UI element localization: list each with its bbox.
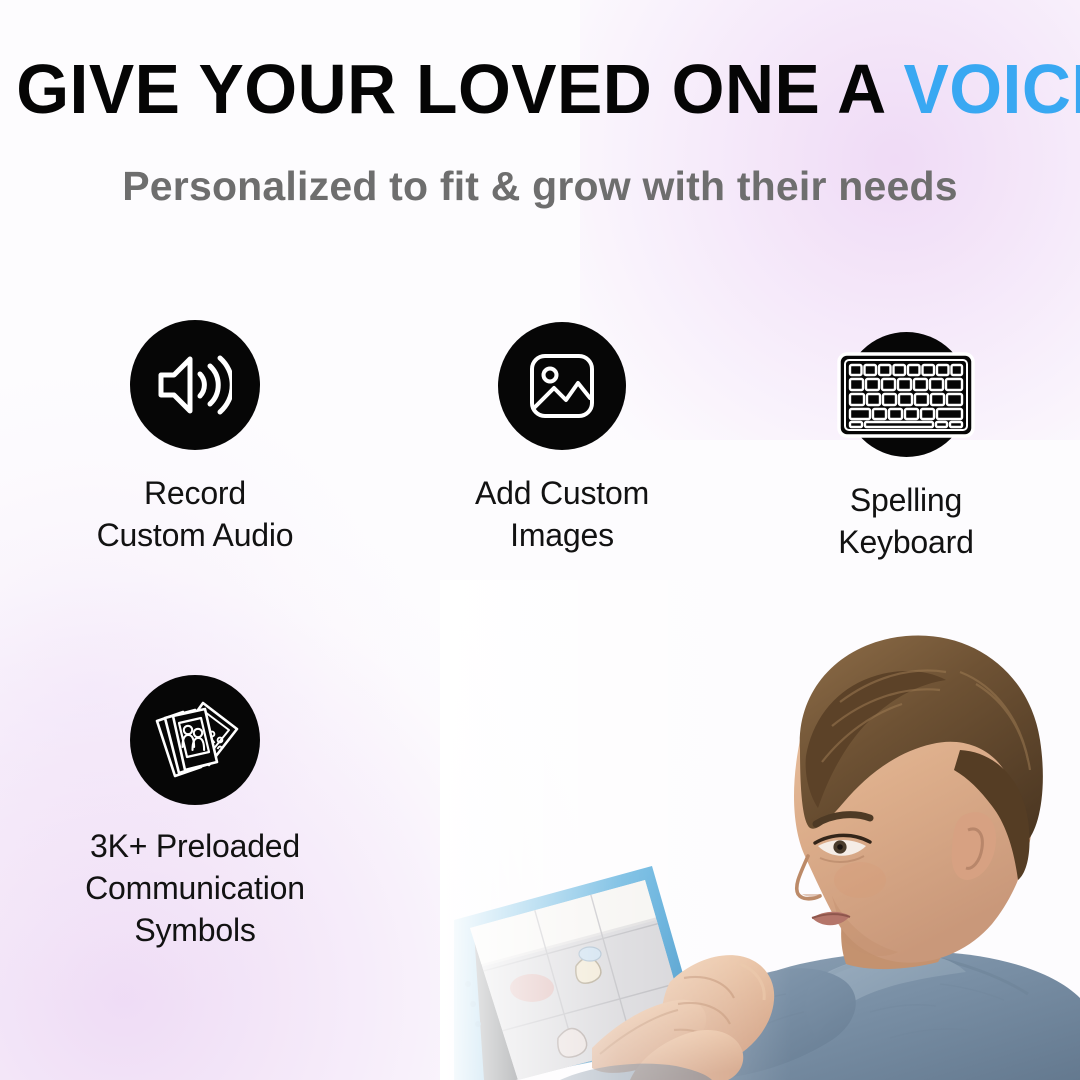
feature-caption: 3K+ Preloaded Communication Symbols xyxy=(35,825,355,951)
image-photo-icon xyxy=(528,352,596,420)
feature-icon-circle xyxy=(130,675,260,805)
feature-caption: Record Custom Audio xyxy=(35,472,355,556)
feature-caption: Spelling Keyboard xyxy=(746,479,1066,563)
feature-caption: Add Custom Images xyxy=(402,472,722,556)
feature-icon-circle xyxy=(844,332,969,457)
feature-icon-circle xyxy=(130,320,260,450)
promo-graphic: GIVE YOUR LOVED ONE A VOICE Personalized… xyxy=(0,0,1080,1080)
page-subtitle: Personalized to fit & grow with their ne… xyxy=(0,160,1080,212)
feature-preloaded-symbols: 3K+ Preloaded Communication Symbols xyxy=(35,675,355,951)
page-title-main: GIVE YOUR LOVED ONE A xyxy=(16,50,903,128)
page-title-accent: VOICE xyxy=(903,50,1080,128)
photo-cards-stack-icon xyxy=(147,695,243,785)
feature-add-custom-images: Add Custom Images xyxy=(402,322,722,556)
feature-icon-circle xyxy=(498,322,626,450)
speaker-volume-icon xyxy=(158,352,232,418)
keyboard-icon xyxy=(837,352,975,438)
feature-spelling-keyboard: Spelling Keyboard xyxy=(746,332,1066,563)
page-title: GIVE YOUR LOVED ONE A VOICE xyxy=(16,50,1064,128)
feature-record-custom-audio: Record Custom Audio xyxy=(35,320,355,556)
